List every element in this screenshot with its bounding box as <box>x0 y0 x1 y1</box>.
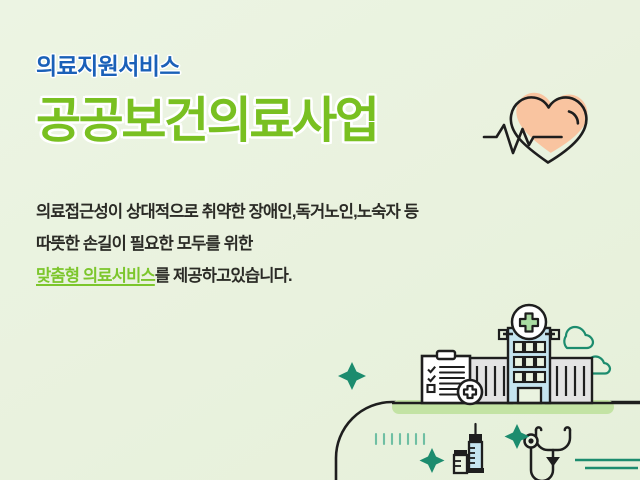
description-line-2: 따뜻한 손길이 필요한 모두를 위한 <box>36 228 506 260</box>
sparkle-icon-2 <box>420 448 445 473</box>
customized-medical-service-link[interactable]: 맞춤형 의료서비스 <box>36 267 155 285</box>
hospital-roof-left-block <box>499 330 507 339</box>
hospital-left-wing-columns <box>477 366 504 396</box>
hospital-entrance-door <box>518 388 541 403</box>
dash-marks-decoration <box>376 434 424 444</box>
banner-text-block: 의료지원서비스 공공보건의료사업 의료접근성이 상대적으로 취약한 장애인,독거… <box>36 52 506 292</box>
description-line-3-rest: 를 제공하고있습니다. <box>155 267 292 285</box>
medicine-vial-icon <box>454 450 467 473</box>
clipboard-empty-box <box>428 385 435 392</box>
syringe-icon <box>467 424 484 473</box>
clipboard-body <box>422 356 470 403</box>
teal-underline-decoration <box>575 460 640 468</box>
stethoscope-icon <box>525 427 571 480</box>
rounded-curve-decoration <box>336 402 640 480</box>
syringe-base <box>467 468 484 473</box>
sparkle-icon-1 <box>338 362 366 390</box>
hospital-main-tower <box>508 328 550 403</box>
hospital-left-wing <box>466 358 512 403</box>
sparkle-icon-3 <box>505 424 530 449</box>
hospital-roof-right-block <box>551 330 559 339</box>
vial-cap <box>454 450 467 455</box>
hospital-cross-sign <box>520 314 538 332</box>
clipboard-badge-circle <box>458 380 482 404</box>
description-line-1: 의료접근성이 상대적으로 취약한 장애인,독거노인,노숙자 등 <box>36 196 506 228</box>
hospital-right-wing-columns <box>557 366 584 396</box>
hospital-right-wing <box>546 358 592 403</box>
syringe-barrel <box>469 442 482 470</box>
medical-clipboard-icon <box>422 351 482 404</box>
syringe-plunger-top <box>469 434 482 442</box>
description-line-3: 맞춤형 의료서비스를 제공하고있습니다. <box>36 260 506 292</box>
syringe-gradations <box>469 448 475 463</box>
healthcare-service-banner: 의료지원서비스 공공보건의료사업 의료접근성이 상대적으로 취약한 장애인,독거… <box>0 0 640 480</box>
banner-description: 의료접근성이 상대적으로 취약한 장애인,독거노인,노숙자 등 따뜻한 손길이 … <box>36 196 506 293</box>
hospital-building-icon <box>392 305 640 403</box>
banner-eyebrow-label: 의료지원서비스 <box>36 52 506 81</box>
clipboard-badge-cross <box>464 386 476 398</box>
hospital-sign-circle <box>512 305 546 339</box>
ground-band <box>392 400 614 414</box>
cloud-icon-large <box>564 327 593 348</box>
clipboard-clip <box>437 351 455 359</box>
heart-pulse-icon <box>482 84 614 176</box>
clipboard-text-lines <box>440 367 464 395</box>
clipboard-checkmarks <box>428 367 435 381</box>
banner-headline: 공공보건의료사업 <box>36 93 506 150</box>
cloud-icon-small <box>587 357 610 374</box>
hospital-windows <box>514 342 545 382</box>
vial-body <box>454 455 467 473</box>
vial-label-lines <box>454 461 461 466</box>
